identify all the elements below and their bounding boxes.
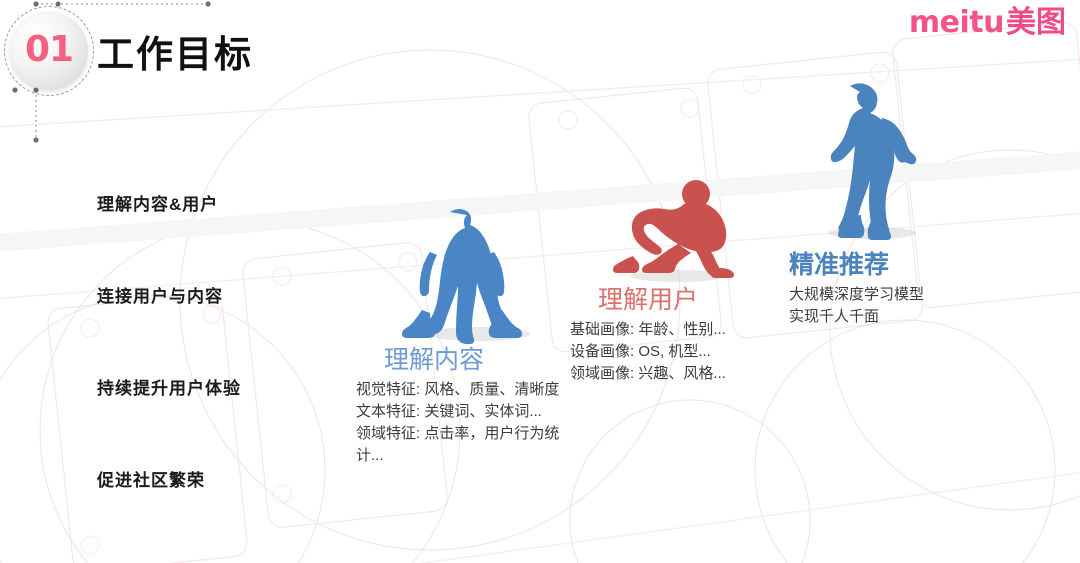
column-content-line-3: 领域特征: 点击率，用户行为统计... [356, 423, 568, 467]
column-recommendation-line-2: 实现千人千面 [789, 306, 1004, 328]
section-number-badge: 01 [4, 6, 96, 98]
column-user-line-2: 设备画像: OS, 机型... [570, 341, 782, 363]
column-user-line-3: 领域画像: 兴趣、风格... [570, 363, 782, 385]
blue-crouching-sprinter-front-silhouette-icon [386, 206, 536, 346]
column-content-body: 视觉特征: 风格、质量、清晰度 文本特征: 关键词、实体词... 领域特征: 点… [356, 379, 568, 467]
badge-number: 01 [25, 32, 73, 70]
goal-item-2: 连接用户与内容 [97, 282, 241, 307]
column-recommendation-line-1: 大规模深度学习模型 [789, 284, 1004, 306]
column-content: 理解内容 视觉特征: 风格、质量、清晰度 文本特征: 关键词、实体词... 领域… [356, 345, 568, 467]
meitu-logo: meitu 美图 [909, 8, 1066, 38]
column-recommendation-title: 精准推荐 [789, 250, 1004, 280]
column-user: 理解用户 基础画像: 年龄、性别... 设备画像: OS, 机型... 领域画像… [570, 285, 782, 385]
goal-item-3: 持续提升用户体验 [97, 374, 241, 399]
goal-item-1: 理解内容&用户 [97, 190, 241, 215]
column-content-title: 理解内容 [356, 345, 568, 375]
column-content-line-2: 文本特征: 关键词、实体词... [356, 401, 568, 423]
column-recommendation-body: 大规模深度学习模型 实现千人千面 [789, 284, 1004, 328]
column-content-line-1: 视觉特征: 风格、质量、清晰度 [356, 379, 568, 401]
column-user-line-1: 基础画像: 年龄、性别... [570, 319, 782, 341]
badge-circle: 01 [10, 12, 88, 90]
brand-name-en: meitu [909, 8, 1004, 38]
page-title: 工作目标 [97, 36, 253, 73]
column-recommendation: 精准推荐 大规模深度学习模型 实现千人千面 [789, 250, 1004, 328]
column-user-title: 理解用户 [570, 285, 782, 315]
slide-canvas: 01 工作目标 meitu 美图 理解内容&用户 连接用户与内容 持续提升用户体… [0, 0, 1080, 563]
goal-list: 理解内容&用户 连接用户与内容 持续提升用户体验 促进社区繁荣 [97, 190, 241, 491]
goal-item-4: 促进社区繁荣 [97, 466, 241, 491]
brand-name-cn: 美图 [1006, 8, 1066, 38]
red-crouching-sprinter-side-silhouette-icon [600, 176, 740, 286]
blue-running-figure-silhouette-icon [798, 78, 923, 243]
column-user-body: 基础画像: 年龄、性别... 设备画像: OS, 机型... 领域画像: 兴趣、… [570, 319, 782, 385]
